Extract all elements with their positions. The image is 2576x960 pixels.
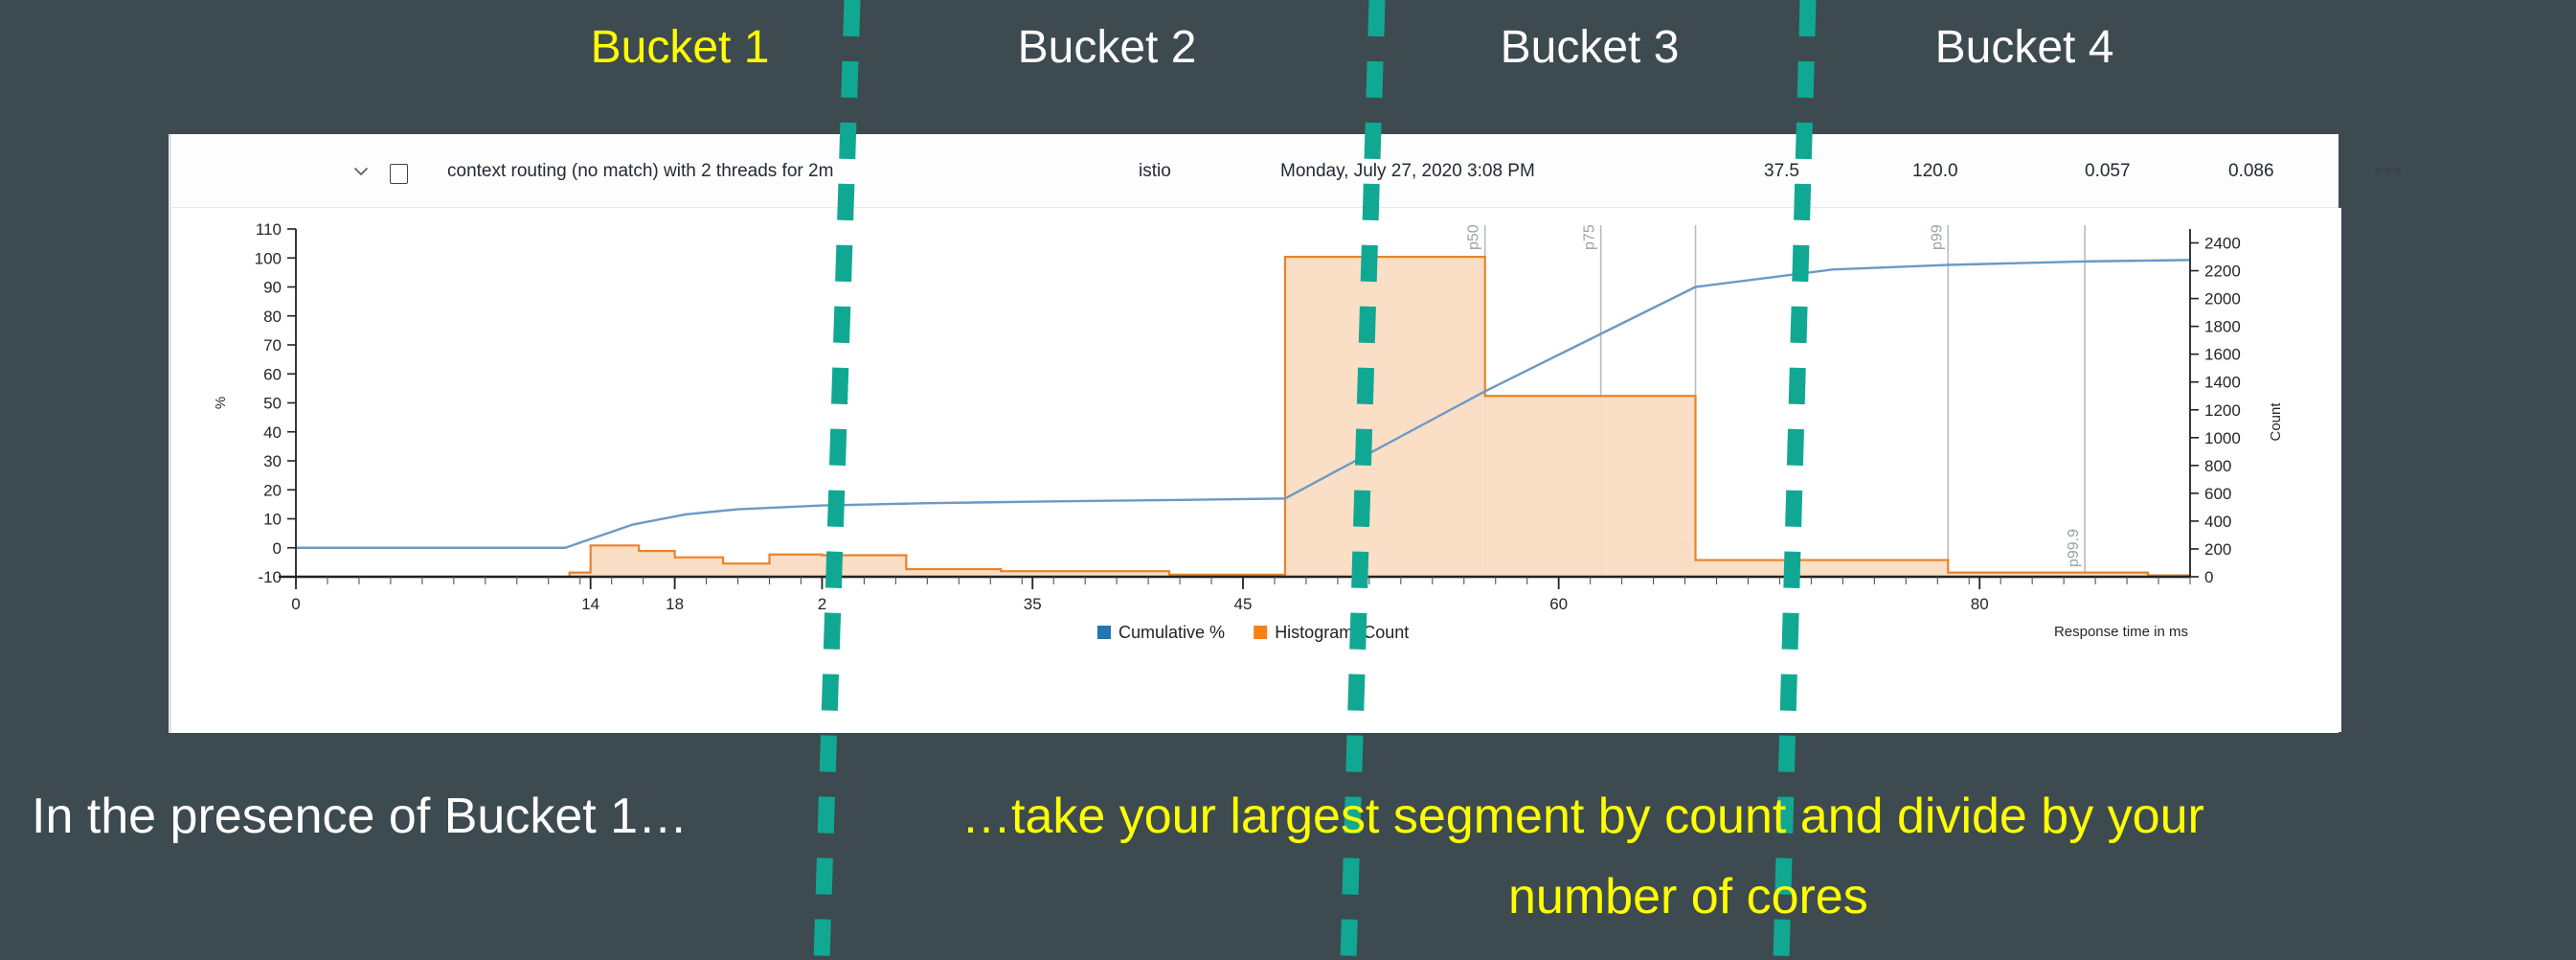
y-tick-label-left: 110 xyxy=(256,220,282,239)
bucket-label-4: Bucket 4 xyxy=(1890,21,2158,74)
bucket-label-1: Bucket 1 xyxy=(546,21,814,74)
benchmark-result-card: context routing (no match) with 2 thread… xyxy=(169,134,2339,733)
y-tick-label-right: 200 xyxy=(2204,540,2231,559)
chevron-down-icon[interactable] xyxy=(351,134,371,208)
histogram-chart: p50p75p90p99p99.9-1001020304050607080901… xyxy=(171,208,2341,732)
caption-line-2: …take your largest segment by count and … xyxy=(961,788,2204,845)
percentile-label-p99: p99 xyxy=(1929,224,1945,250)
y-tick-label-left: 70 xyxy=(263,336,282,354)
result-metric-1: 37.5 xyxy=(1764,134,1799,208)
y-axis-label-right: Count xyxy=(2268,402,2284,442)
x-axis-label: Response time in ms xyxy=(2054,624,2188,640)
bucket-label-2: Bucket 2 xyxy=(973,21,1241,74)
result-metric-4: 0.086 xyxy=(2228,134,2274,208)
y-tick-label-left: 10 xyxy=(263,511,282,529)
legend-label-1: Cumulative % xyxy=(1119,623,1225,642)
y-tick-label-left: 40 xyxy=(263,423,282,442)
x-tick-label: 0 xyxy=(291,595,300,613)
y-tick-label-right: 1200 xyxy=(2204,401,2241,420)
y-tick-label-right: 2200 xyxy=(2204,263,2241,281)
caption-line-1: In the presence of Bucket 1… xyxy=(32,788,688,845)
y-tick-label-left: 60 xyxy=(263,365,282,383)
row-overflow-menu-icon[interactable]: ••• xyxy=(2374,134,2404,208)
y-tick-label-right: 400 xyxy=(2204,513,2231,531)
x-tick-label: 18 xyxy=(666,595,684,613)
y-tick-label-left: 90 xyxy=(263,279,282,297)
legend-label-2: Histogram: Count xyxy=(1275,623,1409,642)
bucket-label-3: Bucket 3 xyxy=(1456,21,1724,74)
y-tick-label-right: 1800 xyxy=(2204,318,2241,336)
histogram-area xyxy=(296,257,2190,577)
y-tick-label-left: 80 xyxy=(263,308,282,326)
y-tick-label-left: 0 xyxy=(273,539,282,558)
legend-swatch-1 xyxy=(1097,626,1111,639)
x-tick-label: 2 xyxy=(818,595,826,613)
x-tick-label: 35 xyxy=(1024,595,1042,613)
result-metric-3: 0.057 xyxy=(2085,134,2131,208)
y-tick-label-left: 50 xyxy=(263,395,282,413)
y-tick-label-left: 100 xyxy=(255,249,282,267)
result-tag: istio xyxy=(1139,134,1171,208)
y-tick-label-right: 1000 xyxy=(2204,429,2241,447)
chart-svg: p50p75p90p99p99.9-1001020304050607080901… xyxy=(171,208,2341,732)
y-tick-label-right: 1400 xyxy=(2204,374,2241,392)
y-tick-label-left: -10 xyxy=(258,568,282,586)
percentile-label-p50: p50 xyxy=(1466,224,1482,250)
x-tick-label: 60 xyxy=(1549,595,1568,613)
legend-swatch-2 xyxy=(1254,626,1267,639)
x-tick-label: 14 xyxy=(581,595,599,613)
x-tick-label: 45 xyxy=(1234,595,1253,613)
y-tick-label-right: 1600 xyxy=(2204,346,2241,364)
y-axis-label-left: % xyxy=(213,397,229,409)
percentile-label-p75: p75 xyxy=(1582,224,1598,250)
x-tick-label: 80 xyxy=(1971,595,1989,613)
result-row[interactable]: context routing (no match) with 2 thread… xyxy=(171,134,2339,208)
y-tick-label-right: 0 xyxy=(2204,568,2213,586)
y-tick-label-right: 600 xyxy=(2204,485,2231,503)
y-tick-label-right: 800 xyxy=(2204,457,2231,475)
slide-canvas: Bucket 1Bucket 2Bucket 3Bucket 4 context… xyxy=(0,0,2576,960)
cumulative-line xyxy=(296,260,2190,547)
result-timestamp: Monday, July 27, 2020 3:08 PM xyxy=(1280,134,1535,208)
row-checkbox[interactable] xyxy=(390,164,408,184)
histogram-outline xyxy=(296,257,2190,577)
result-name: context routing (no match) with 2 thread… xyxy=(447,134,833,208)
result-metric-2: 120.0 xyxy=(1912,134,1958,208)
percentile-label-p99.9: p99.9 xyxy=(2066,529,2082,567)
y-tick-label-right: 2000 xyxy=(2204,290,2241,309)
caption-line-3: number of cores xyxy=(1508,868,1868,926)
y-tick-label-left: 20 xyxy=(263,481,282,499)
y-tick-label-right: 2400 xyxy=(2204,235,2241,253)
y-tick-label-left: 30 xyxy=(263,452,282,470)
